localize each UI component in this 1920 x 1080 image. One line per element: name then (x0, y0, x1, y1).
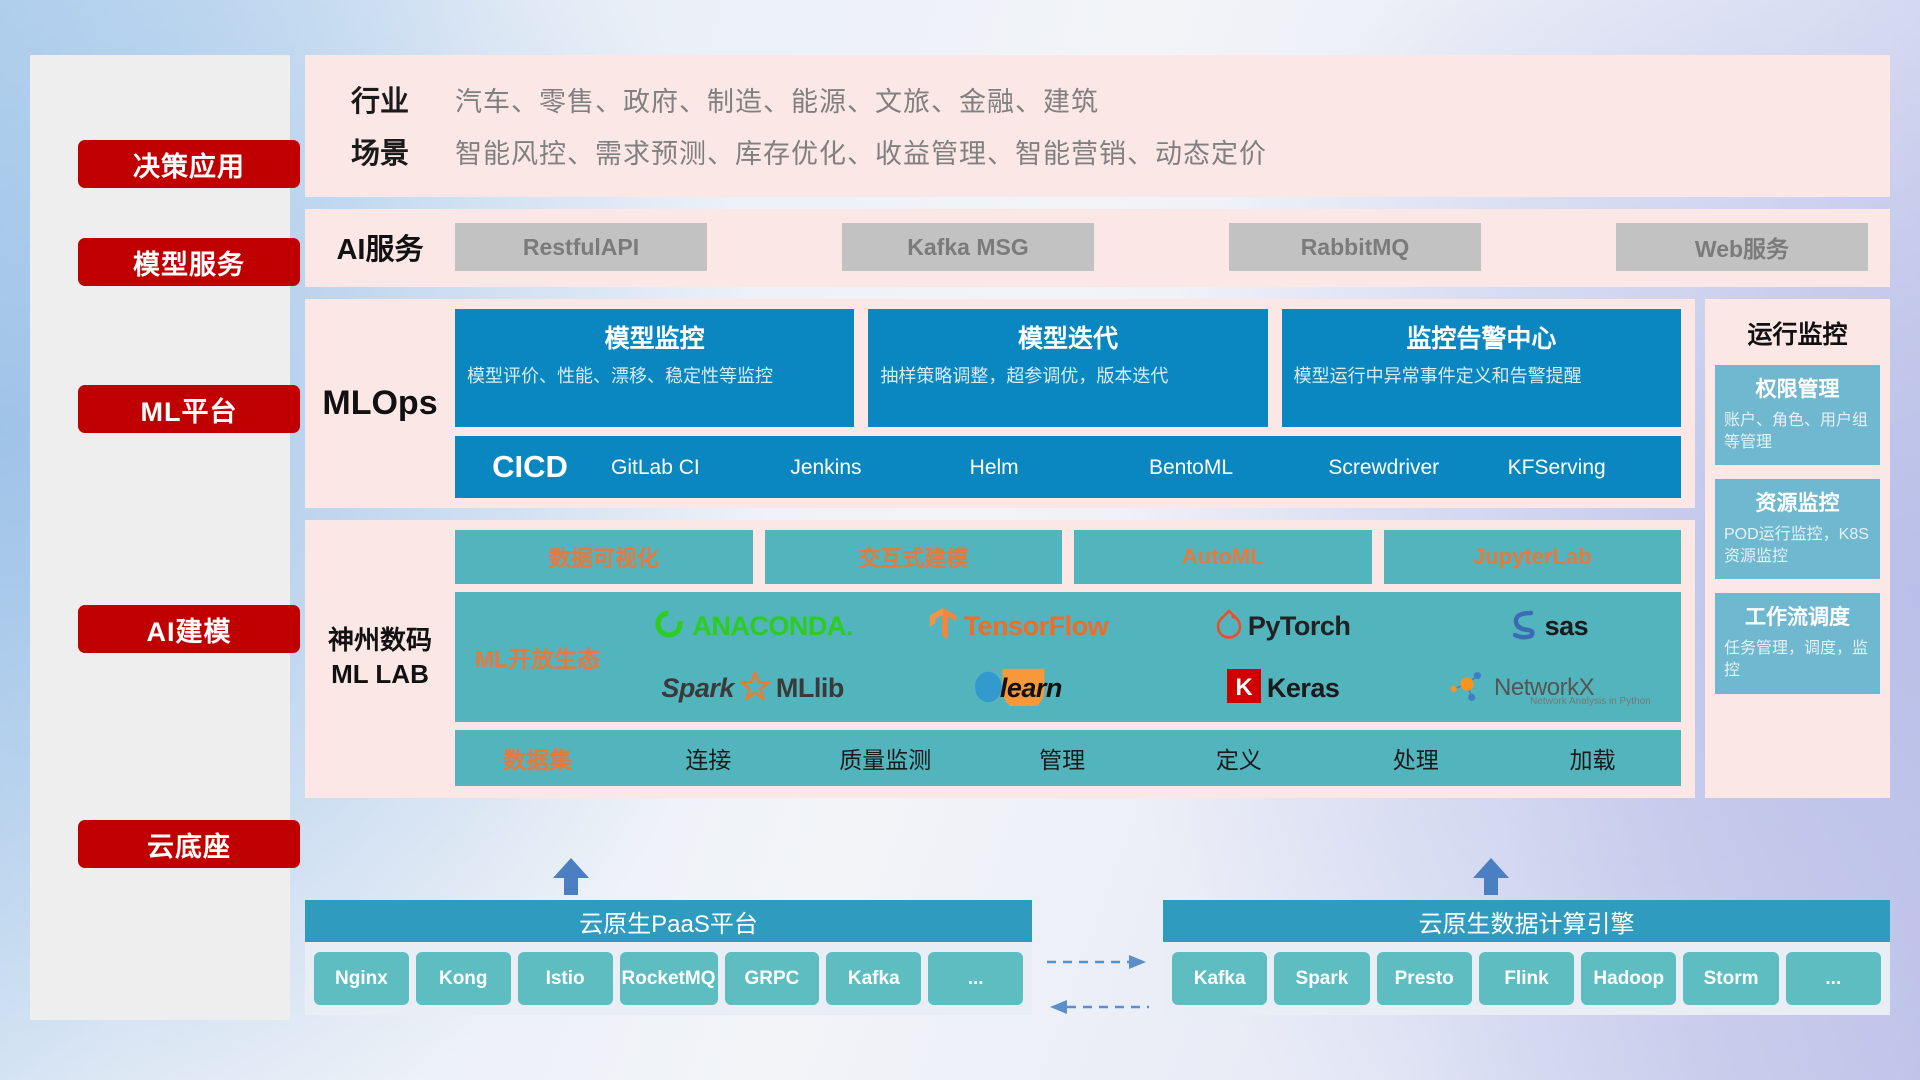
cicd-item[interactable]: Jenkins (784, 457, 963, 478)
monitor-card-desc: 账户、角色、用户组等管理 (1724, 410, 1871, 453)
eco-logo: NetworkXNetwork Analysis in Python (1416, 657, 1681, 719)
eco-logo-name: learn (1000, 673, 1062, 704)
runtime-monitor-title: 运行监控 (1715, 315, 1880, 351)
dataset-row: 数据集 连接质量监测管理定义处理加载 (455, 730, 1681, 786)
cicd-item[interactable]: Screwdriver (1322, 457, 1501, 478)
spark-wordmark: Spark (661, 673, 734, 704)
ai-service-label: AI服务 (305, 226, 455, 268)
paas-platform-title: 云原生PaaS平台 (305, 900, 1032, 942)
up-arrow-left-icon (553, 858, 589, 894)
eco-logo: sas (1416, 595, 1681, 657)
cloud-chip[interactable]: ... (928, 952, 1023, 1005)
mlops-card[interactable]: 模型迭代抽样策略调整，超参调优，版本迭代 (868, 309, 1267, 427)
cicd-title: CICD (455, 449, 605, 485)
bidirectional-flow-arrows (1043, 900, 1153, 1015)
cloud-chip[interactable]: Kong (416, 952, 511, 1005)
cloud-chip[interactable]: Kafka (826, 952, 921, 1005)
mlops-card-desc: 抽样策略调整，超参调优，版本迭代 (880, 364, 1255, 388)
lab-tool[interactable]: JupyterLab (1384, 530, 1682, 584)
monitor-card-title: 权限管理 (1724, 373, 1871, 403)
sas-icon (1509, 608, 1539, 645)
ai-service-chip[interactable]: RestfulAPI (455, 223, 707, 271)
rail-tag-3[interactable]: AI建模 (78, 605, 300, 653)
monitor-card[interactable]: 资源监控POD运行监控，K8S资源监控 (1715, 479, 1880, 579)
paas-platform-box: 云原生PaaS平台 NginxKongIstioRocketMQGRPCKafk… (305, 900, 1032, 1015)
dataset-title: 数据集 (455, 741, 620, 775)
cloud-chip[interactable]: Storm (1683, 952, 1778, 1005)
mlops-label: MLOps (305, 309, 455, 498)
eco-logo: ANACONDA. (620, 595, 885, 657)
eco-logo: learn (885, 657, 1150, 719)
dashed-arrows-icon (1043, 900, 1153, 1050)
industry-row: 场景智能风控、需求预测、库存优化、收益管理、智能营销、动态定价 (305, 125, 1890, 177)
tensorflow-icon (928, 607, 958, 646)
runtime-monitor-panel: 运行监控 权限管理账户、角色、用户组等管理资源监控POD运行监控，K8S资源监控… (1705, 299, 1890, 798)
cloud-chip[interactable]: Presto (1377, 952, 1472, 1005)
industry-row-label: 行业 (305, 78, 455, 120)
rail-tag-4[interactable]: 云底座 (78, 820, 300, 868)
ml-open-ecosystem: ML开放生态 ANACONDA.TensorFlowPyTorchsasSpar… (455, 592, 1681, 722)
data-compute-engine-title: 云原生数据计算引擎 (1163, 900, 1890, 942)
data-compute-engine-box: 云原生数据计算引擎 KafkaSparkPrestoFlinkHadoopSto… (1163, 900, 1890, 1015)
ai-service-chip[interactable]: Web服务 (1616, 223, 1868, 271)
industry-row: 行业汽车、零售、政府、制造、能源、文旅、金融、建筑 (305, 73, 1890, 125)
mlops-card-title: 模型迭代 (880, 319, 1255, 355)
ml-platform-section: MLOps 模型监控模型评价、性能、漂移、稳定性等监控模型迭代抽样策略调整，超参… (305, 299, 1890, 798)
ai-service-chip[interactable]: RabbitMQ (1229, 223, 1481, 271)
networkx-icon (1446, 668, 1488, 709)
decision-application-band: 行业汽车、零售、政府、制造、能源、文旅、金融、建筑场景智能风控、需求预测、库存优… (305, 55, 1890, 197)
eco-logo: TensorFlow (885, 595, 1150, 657)
eco-logo-name: sas (1545, 611, 1589, 642)
cloud-chip[interactable]: RocketMQ (620, 952, 718, 1005)
cloud-chip[interactable]: Flink (1479, 952, 1574, 1005)
cloud-chip[interactable]: GRPC (725, 952, 820, 1005)
cicd-item[interactable]: BentoML (1143, 457, 1322, 478)
industry-row-value: 汽车、零售、政府、制造、能源、文旅、金融、建筑 (455, 80, 1099, 119)
cloud-chip[interactable]: Nginx (314, 952, 409, 1005)
monitor-card-desc: 任务管理，调度，监控 (1724, 638, 1871, 681)
anaconda-icon (652, 607, 686, 646)
lab-tool[interactable]: 数据可视化 (455, 530, 753, 584)
dataset-item[interactable]: 定义 (1150, 741, 1327, 775)
dataset-item[interactable]: 加载 (1504, 741, 1681, 775)
cloud-chip[interactable]: Istio (518, 952, 613, 1005)
architecture-main: 行业汽车、零售、政府、制造、能源、文旅、金融、建筑场景智能风控、需求预测、库存优… (305, 55, 1890, 798)
mlops-card-title: 模型监控 (467, 319, 842, 355)
eco-logo-name: ANACONDA. (692, 611, 853, 642)
monitor-card[interactable]: 权限管理账户、角色、用户组等管理 (1715, 365, 1880, 465)
industry-row-value: 智能风控、需求预测、库存优化、收益管理、智能营销、动态定价 (455, 132, 1267, 171)
mlops-card-title: 监控告警中心 (1294, 319, 1669, 355)
monitor-card-desc: POD运行监控，K8S资源监控 (1724, 524, 1871, 567)
dataset-item[interactable]: 处理 (1327, 741, 1504, 775)
rail-tag-1[interactable]: 模型服务 (78, 238, 300, 286)
monitor-card-title: 资源监控 (1724, 487, 1871, 517)
eco-logo-name: PyTorch (1248, 611, 1351, 642)
ml-open-ecosystem-title: ML开放生态 (455, 640, 620, 674)
cicd-row: CICD GitLab CIJenkinsHelmBentoMLScrewdri… (455, 436, 1681, 498)
ml-lab-label: 神州数码 ML LAB (305, 530, 455, 786)
lab-tool[interactable]: AutoML (1074, 530, 1372, 584)
cloud-chip[interactable]: Spark (1274, 952, 1369, 1005)
stack-layer-rail: 决策应用模型服务ML平台AI建模云底座 (30, 55, 290, 1020)
lab-tool[interactable]: 交互式建模 (765, 530, 1063, 584)
up-arrow-right-icon (1473, 858, 1509, 894)
mlops-card[interactable]: 监控告警中心模型运行中异常事件定义和告警提醒 (1282, 309, 1681, 427)
monitor-card[interactable]: 工作流调度任务管理，调度，监控 (1715, 593, 1880, 693)
ml-lab-label-line1: 神州数码 (328, 624, 432, 658)
ml-lab-label-line2: ML LAB (331, 658, 429, 692)
cicd-item[interactable]: GitLab CI (605, 457, 784, 478)
svg-text:K: K (1235, 674, 1253, 701)
keras-icon: K (1227, 669, 1261, 708)
dataset-item[interactable]: 管理 (974, 741, 1151, 775)
cloud-chip[interactable]: ... (1786, 952, 1881, 1005)
ai-service-chip[interactable]: Kafka MSG (842, 223, 1094, 271)
spark-icon (740, 671, 770, 706)
eco-logo-name: Keras (1267, 673, 1340, 704)
eco-logo: KKeras (1151, 657, 1416, 719)
mlops-card-desc: 模型运行中异常事件定义和告警提醒 (1294, 364, 1669, 388)
dataset-item[interactable]: 连接 (620, 741, 797, 775)
networkx-subtitle: Network Analysis in Python (1530, 696, 1651, 707)
rail-tag-0[interactable]: 决策应用 (78, 140, 300, 188)
ai-modeling-band: 神州数码 ML LAB 数据可视化交互式建模AutoMLJupyterLab M… (305, 520, 1695, 798)
eco-logo: PyTorch (1151, 595, 1416, 657)
cicd-item[interactable]: KFServing (1502, 457, 1681, 478)
rail-tag-2[interactable]: ML平台 (78, 385, 300, 433)
eco-logo-name: MLlib (776, 673, 844, 704)
mlops-card[interactable]: 模型监控模型评价、性能、漂移、稳定性等监控 (455, 309, 854, 427)
dataset-item[interactable]: 质量监测 (797, 741, 974, 775)
cloud-chip[interactable]: Kafka (1172, 952, 1267, 1005)
monitor-card-title: 工作流调度 (1724, 601, 1871, 631)
mlops-card-desc: 模型评价、性能、漂移、稳定性等监控 (467, 364, 842, 388)
cloud-foundation-section: 云原生PaaS平台 NginxKongIstioRocketMQGRPCKafk… (305, 900, 1890, 1050)
pytorch-icon (1216, 609, 1242, 644)
mlops-band: MLOps 模型监控模型评价、性能、漂移、稳定性等监控模型迭代抽样策略调整，超参… (305, 299, 1695, 508)
eco-logo: SparkMLlib (620, 657, 885, 719)
cloud-chip[interactable]: Hadoop (1581, 952, 1676, 1005)
industry-row-label: 场景 (305, 130, 455, 172)
cicd-item[interactable]: Helm (964, 457, 1143, 478)
model-service-band: AI服务 RestfulAPIKafka MSGRabbitMQWeb服务 (305, 209, 1890, 287)
eco-logo-name: TensorFlow (964, 611, 1109, 642)
